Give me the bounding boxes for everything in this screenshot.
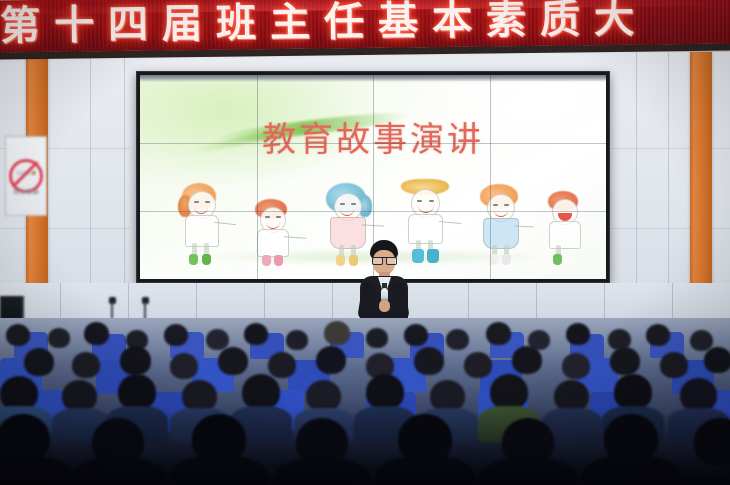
audience-head (72, 352, 100, 378)
audience-shoulders-front (0, 456, 72, 485)
audience-head (48, 328, 70, 348)
kid-2-body (257, 229, 289, 257)
audience-shoulders-front (170, 456, 268, 485)
kid-1-body (185, 215, 219, 247)
audience-head (464, 352, 492, 378)
kid-1 (176, 181, 238, 267)
audience-head (84, 322, 109, 345)
prohibition-circle-icon (9, 159, 43, 193)
kid-1-boot (189, 254, 198, 265)
audience-shoulders-front (274, 458, 370, 485)
audience-head (268, 352, 296, 378)
audience-head (118, 374, 156, 410)
audience-head (646, 324, 670, 346)
audience-head (242, 374, 280, 410)
audience-head (414, 347, 444, 375)
audience-shoulders-front (72, 458, 166, 485)
kid-6 (544, 187, 594, 267)
kid-5-dress (483, 218, 519, 249)
audience-head (120, 346, 151, 375)
audience-head (610, 347, 640, 375)
kid-1-boot-2 (202, 254, 211, 265)
audience-head (6, 324, 30, 346)
panel-seam-h-2 (140, 211, 606, 212)
audience-shoulders-front (480, 458, 576, 485)
kid-5 (476, 183, 536, 267)
audience-head (404, 324, 428, 346)
audience-head (446, 329, 469, 350)
audience-head (218, 347, 248, 375)
audience-head (206, 329, 229, 350)
panel-seam-h-1 (140, 143, 606, 144)
audience-head (366, 374, 404, 410)
banner-text: 第十四届班主任基本素质大 (0, 0, 730, 50)
audience-shoulders-front (582, 456, 680, 485)
audience-head (614, 374, 652, 410)
no-smoking-label-en: No smoking (6, 189, 46, 197)
audience-head (704, 347, 730, 373)
speaker-glasses-bridge (372, 257, 396, 264)
led-banner: 第十四届班主任基本素质大 (0, 0, 730, 53)
no-smoking-sign: 禁止吸烟 No smoking (5, 136, 47, 216)
audience-head (690, 330, 713, 351)
speaker-hand (379, 300, 390, 312)
kid-6-body (549, 221, 581, 249)
audience-head (316, 346, 346, 374)
panel-seam-v-3 (490, 75, 491, 279)
audience-head (164, 324, 188, 346)
audience-head (566, 323, 590, 345)
panel-seam-v-1 (257, 75, 258, 279)
audience-head (286, 330, 308, 350)
auditorium-photo: 禁止吸烟 No smoking 教育故事演讲 (0, 0, 730, 485)
audience-head (660, 352, 688, 378)
audience-head (562, 353, 590, 379)
audience-head (324, 321, 350, 345)
audience-head (486, 322, 511, 345)
audience-head (24, 348, 54, 376)
audience-head (170, 353, 198, 379)
audience-head (244, 323, 268, 345)
audience-head (512, 346, 542, 374)
seated-audience (0, 318, 730, 485)
audience-head (366, 328, 388, 348)
audience-head (490, 374, 528, 410)
audience-head (680, 378, 717, 412)
audience-shoulders-front (376, 456, 474, 485)
